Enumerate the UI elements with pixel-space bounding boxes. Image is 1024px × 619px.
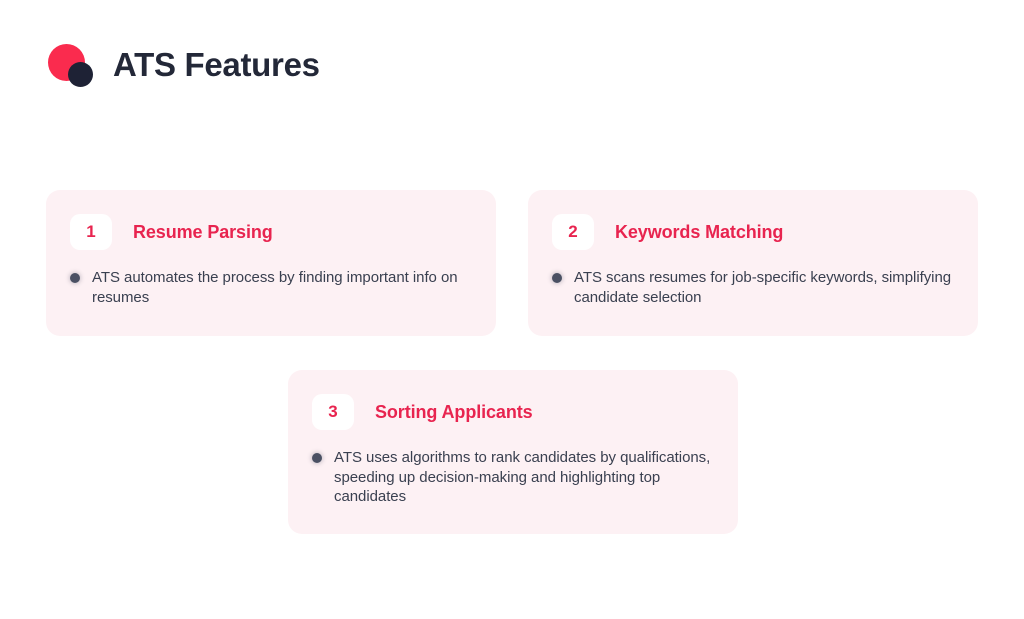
feature-card: 3 Sorting Applicants ATS uses algorithms… <box>288 370 738 534</box>
feature-number-badge: 2 <box>552 214 594 250</box>
feature-card-text: ATS uses algorithms to rank candidates b… <box>334 448 716 507</box>
feature-card-header: 3 Sorting Applicants <box>288 370 738 430</box>
feature-card-title: Sorting Applicants <box>375 402 533 423</box>
page-title: ATS Features <box>113 48 320 81</box>
feature-card-header: 1 Resume Parsing <box>46 190 496 250</box>
bullet-dot-icon <box>312 453 322 463</box>
feature-card-header: 2 Keywords Matching <box>528 190 978 250</box>
feature-card-body: ATS uses algorithms to rank candidates b… <box>288 448 738 507</box>
brand-logo <box>46 40 94 88</box>
feature-card-title: Keywords Matching <box>615 222 783 243</box>
feature-number-badge: 3 <box>312 394 354 430</box>
page-header: ATS Features <box>46 40 320 88</box>
filled-circle-small-icon <box>68 62 93 87</box>
feature-card: 1 Resume Parsing ATS automates the proce… <box>46 190 496 336</box>
bullet-dot-icon <box>70 273 80 283</box>
feature-card-title: Resume Parsing <box>133 222 273 243</box>
feature-card: 2 Keywords Matching ATS scans resumes fo… <box>528 190 978 336</box>
feature-card-text: ATS automates the process by finding imp… <box>92 268 474 307</box>
feature-card-body: ATS scans resumes for job-specific keywo… <box>528 268 978 307</box>
feature-card-text: ATS scans resumes for job-specific keywo… <box>574 268 956 307</box>
feature-card-body: ATS automates the process by finding imp… <box>46 268 496 307</box>
bullet-dot-icon <box>552 273 562 283</box>
feature-number-badge: 1 <box>70 214 112 250</box>
